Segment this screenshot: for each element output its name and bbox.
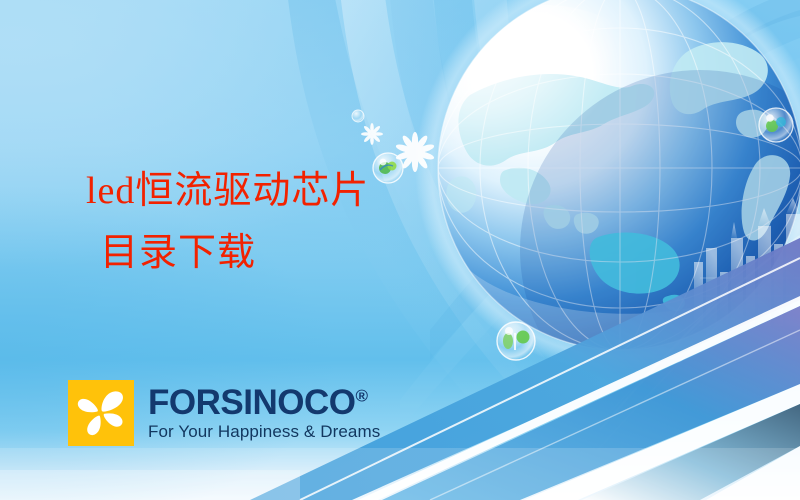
headline-line-1: led恒流驱动芯片	[86, 160, 506, 222]
poster-canvas: led恒流驱动芯片 目录下载 FORSINOCO® For Your Happi…	[0, 0, 800, 500]
bubble-green-sprout	[497, 322, 535, 360]
headline-line-2: 目录下载	[100, 222, 506, 284]
brand-tagline: For Your Happiness & Dreams	[148, 422, 380, 442]
four-petal-pinwheel-icon	[68, 380, 134, 446]
brand-logo: FORSINOCO® For Your Happiness & Dreams	[68, 380, 380, 446]
brand-text: FORSINOCO® For Your Happiness & Dreams	[148, 385, 380, 442]
white-flower-small	[361, 123, 383, 145]
registered-trademark-icon: ®	[355, 386, 367, 405]
brand-name-text: FORSINOCO	[148, 383, 355, 422]
brand-name: FORSINOCO®	[148, 385, 380, 421]
bubble-right-edge	[759, 108, 793, 142]
bubble-small-upper	[352, 110, 364, 122]
headline-block: led恒流驱动芯片 目录下载	[86, 160, 506, 284]
